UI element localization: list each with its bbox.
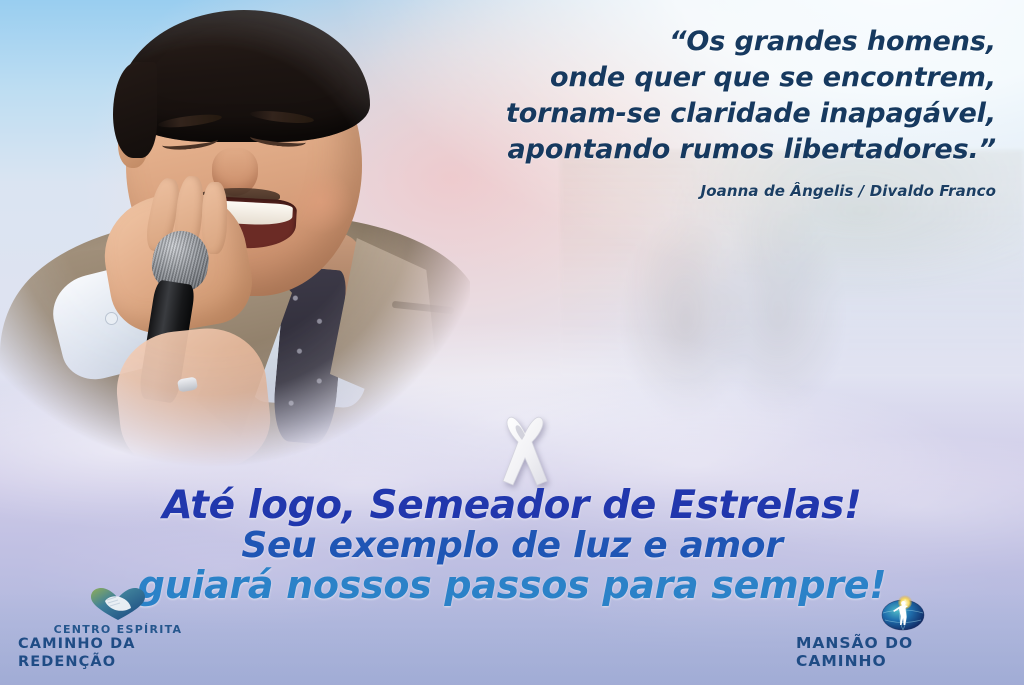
quote-author: Joanna de Ângelis / Divaldo Franco: [476, 182, 996, 200]
mourning-ribbon-icon: [489, 409, 561, 487]
portrait-photo: [0, 0, 470, 470]
logo-mansao-do-caminho: MANSÃO DO CAMINHO: [796, 595, 1010, 671]
quote-line-2: onde quer que se encontrem,: [476, 60, 996, 96]
quote-line-3: tornam-se claridade inapagável,: [476, 96, 996, 132]
logo-left-line-2: CAMINHO DA REDENÇÃO: [18, 636, 218, 671]
farewell-line-1: Até logo, Semeador de Estrelas!: [0, 486, 1024, 526]
portrait-hair-sideburn: [113, 62, 157, 158]
logo-left-line-1: CENTRO ESPÍRITA: [54, 624, 183, 637]
quote-line-1: “Os grandes homens,: [476, 24, 996, 60]
farewell-line-2: Seu exemplo de luz e amor: [0, 526, 1024, 566]
logo-right-line-1: MANSÃO DO CAMINHO: [796, 634, 1010, 671]
heart-hands-icon: [89, 587, 147, 621]
logo-centro-espirita: CENTRO ESPÍRITA CAMINHO DA REDENÇÃO: [18, 587, 218, 671]
quote-block: “Os grandes homens, onde quer que se enc…: [476, 24, 996, 200]
globe-figure-icon: [879, 595, 927, 631]
portrait-cuff-button: [105, 312, 118, 325]
memorial-poster: “Os grandes homens, onde quer que se enc…: [0, 0, 1024, 685]
quote-line-4: apontando rumos libertadores.”: [476, 132, 996, 168]
portrait-cheek: [290, 170, 352, 234]
